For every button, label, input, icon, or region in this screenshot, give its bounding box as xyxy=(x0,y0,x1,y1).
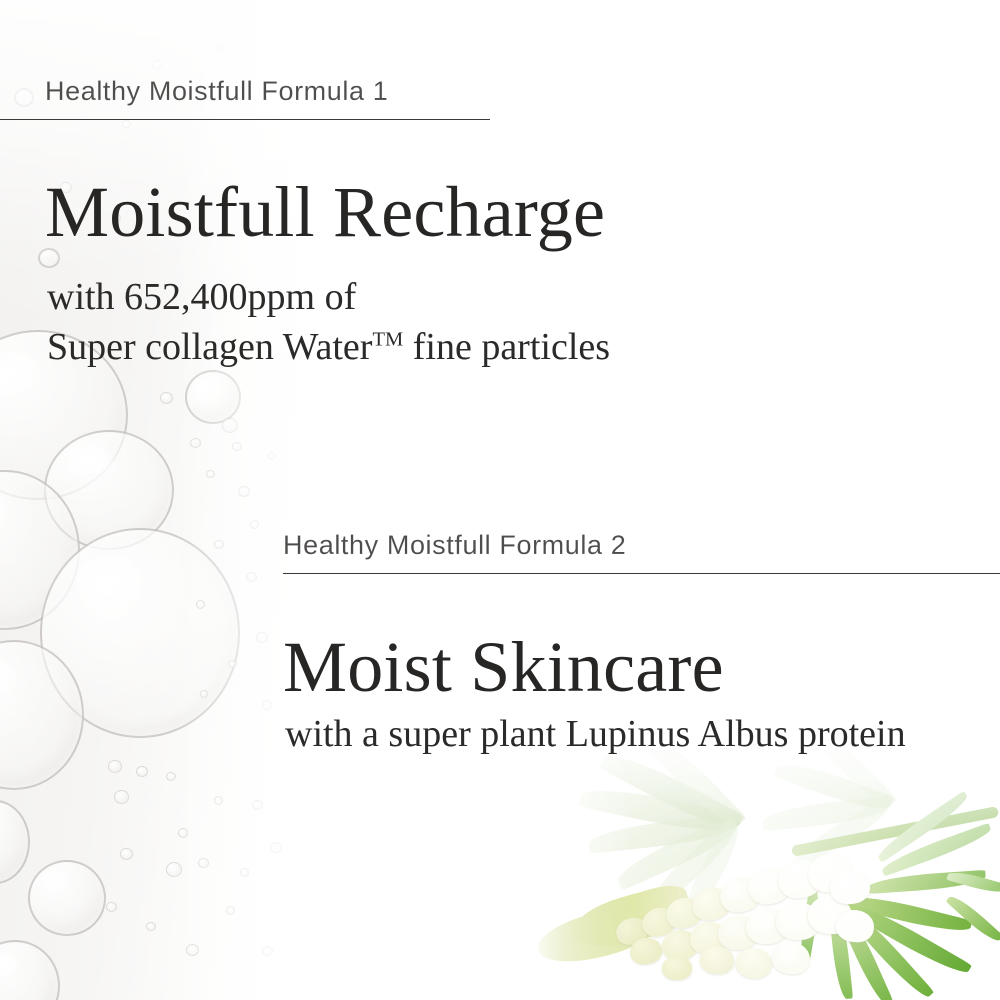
droplet xyxy=(262,700,272,710)
droplet xyxy=(122,120,131,128)
leaf-pale xyxy=(643,817,745,912)
petal xyxy=(834,908,875,944)
droplet xyxy=(238,486,250,497)
droplet xyxy=(198,858,209,868)
bubble-large xyxy=(40,528,240,738)
formula-one-eyebrow: Healthy Moistfull Formula 1 xyxy=(45,76,500,107)
petal xyxy=(660,928,700,963)
leaf-pale xyxy=(588,814,740,854)
bubble-medium xyxy=(185,370,241,424)
bubble-small xyxy=(0,800,30,884)
droplet xyxy=(214,540,224,549)
subcopy-text-before: Super collagen Water xyxy=(47,326,372,368)
droplet xyxy=(256,632,268,643)
trademark-mark: TM xyxy=(372,328,403,350)
formula-two-divider xyxy=(283,573,1000,574)
droplet xyxy=(206,470,215,478)
product-feature-banner: Healthy Moistfull Formula 1 Moistfull Re… xyxy=(0,0,1000,1000)
bubble-small xyxy=(28,860,106,936)
droplet xyxy=(146,922,156,931)
droplet xyxy=(190,438,201,448)
leaf-green xyxy=(867,870,986,894)
leaf-green xyxy=(946,892,1000,946)
formula-two-eyebrow-group: Healthy Moistfull Formula 2 xyxy=(283,530,1000,574)
petal xyxy=(806,852,854,894)
petal xyxy=(735,946,774,980)
bubble-medium xyxy=(0,640,84,790)
leaf-pale xyxy=(646,750,747,834)
petal xyxy=(663,894,706,933)
petal xyxy=(699,945,735,975)
leaf-green xyxy=(797,887,822,960)
bubble-large xyxy=(0,470,80,630)
petal xyxy=(688,920,729,956)
droplet xyxy=(196,600,205,609)
flower-stem xyxy=(791,806,999,857)
leaf-pale xyxy=(599,750,744,838)
flower-left-fade xyxy=(530,750,1000,1000)
droplet xyxy=(246,572,257,582)
petal xyxy=(776,857,825,901)
droplet xyxy=(120,848,133,860)
petal xyxy=(745,865,793,908)
leaf-pale xyxy=(811,750,898,813)
droplet xyxy=(252,800,263,810)
bubble-large xyxy=(44,430,174,550)
leaf-pale xyxy=(613,815,743,891)
petal xyxy=(829,869,871,906)
droplet xyxy=(222,418,238,433)
bubble-right-fade xyxy=(0,0,330,1000)
droplet xyxy=(166,862,182,877)
water-bubbles-photo xyxy=(0,0,330,1000)
petal xyxy=(613,914,651,949)
formula-one-subcopy: with 652,400ppm of Super collagen WaterT… xyxy=(47,272,610,372)
bubble-small xyxy=(0,940,60,1000)
droplet xyxy=(178,828,188,838)
leaf-green xyxy=(846,897,972,980)
droplet xyxy=(166,772,176,781)
droplet xyxy=(160,392,173,404)
leaf-green xyxy=(829,907,854,1000)
petal xyxy=(745,907,788,944)
leaf-pale xyxy=(773,756,893,818)
droplet xyxy=(214,796,223,805)
petal xyxy=(639,903,680,940)
petal xyxy=(717,915,759,952)
droplet xyxy=(270,842,282,853)
petal xyxy=(770,940,812,977)
leaf-pale xyxy=(762,796,892,831)
formula-one-subcopy-line-2: Super collagen WaterTM fine particles xyxy=(47,322,610,372)
droplet xyxy=(136,766,148,777)
formula-two-headline: Moist Skincare xyxy=(283,627,724,707)
leaf-green xyxy=(842,903,934,1000)
lupine-flower-photo xyxy=(530,750,1000,1000)
petal xyxy=(628,935,664,966)
droplet xyxy=(250,520,259,529)
leaf-green xyxy=(879,823,993,877)
leaf-pale xyxy=(790,797,895,869)
droplet xyxy=(152,60,162,69)
droplet xyxy=(114,790,129,804)
formula-one-eyebrow-group: Healthy Moistfull Formula 1 xyxy=(0,76,500,120)
leaf-pale xyxy=(676,820,747,921)
droplet xyxy=(262,946,273,956)
leaf-green xyxy=(846,890,972,937)
bubble-backdrop-gradient xyxy=(0,0,330,1000)
petal xyxy=(775,901,820,941)
flower-bud-tip xyxy=(568,880,696,957)
petal xyxy=(807,895,854,936)
formula-one-headline: Moistfull Recharge xyxy=(45,172,605,252)
formula-two-subcopy: with a super plant Lupinus Albus protein xyxy=(285,710,906,758)
droplet xyxy=(232,442,242,451)
droplet xyxy=(216,44,224,52)
formula-two-subcopy-line-1: with a super plant Lupinus Albus protein xyxy=(285,710,906,758)
formula-two-eyebrow: Healthy Moistfull Formula 2 xyxy=(283,530,1000,561)
flower-bud-tip xyxy=(533,900,660,972)
formula-one-subcopy-line-1: with 652,400ppm of xyxy=(47,272,610,322)
leaf-green xyxy=(837,907,894,1000)
droplet xyxy=(268,452,276,460)
leaf-green xyxy=(874,791,971,863)
droplet xyxy=(186,944,199,956)
subcopy-text-after: fine particles xyxy=(403,326,610,368)
flower-top-fade xyxy=(530,750,1000,1000)
leaf-green xyxy=(946,868,1000,896)
formula-one-divider xyxy=(0,119,490,120)
droplet xyxy=(226,906,235,915)
droplet xyxy=(200,690,208,698)
leaf-pale xyxy=(579,781,741,840)
petal xyxy=(662,956,692,980)
droplet xyxy=(228,660,237,668)
petal xyxy=(689,884,734,924)
droplet xyxy=(240,868,249,877)
droplet xyxy=(108,760,122,773)
droplet xyxy=(106,902,117,912)
petal xyxy=(717,874,763,916)
